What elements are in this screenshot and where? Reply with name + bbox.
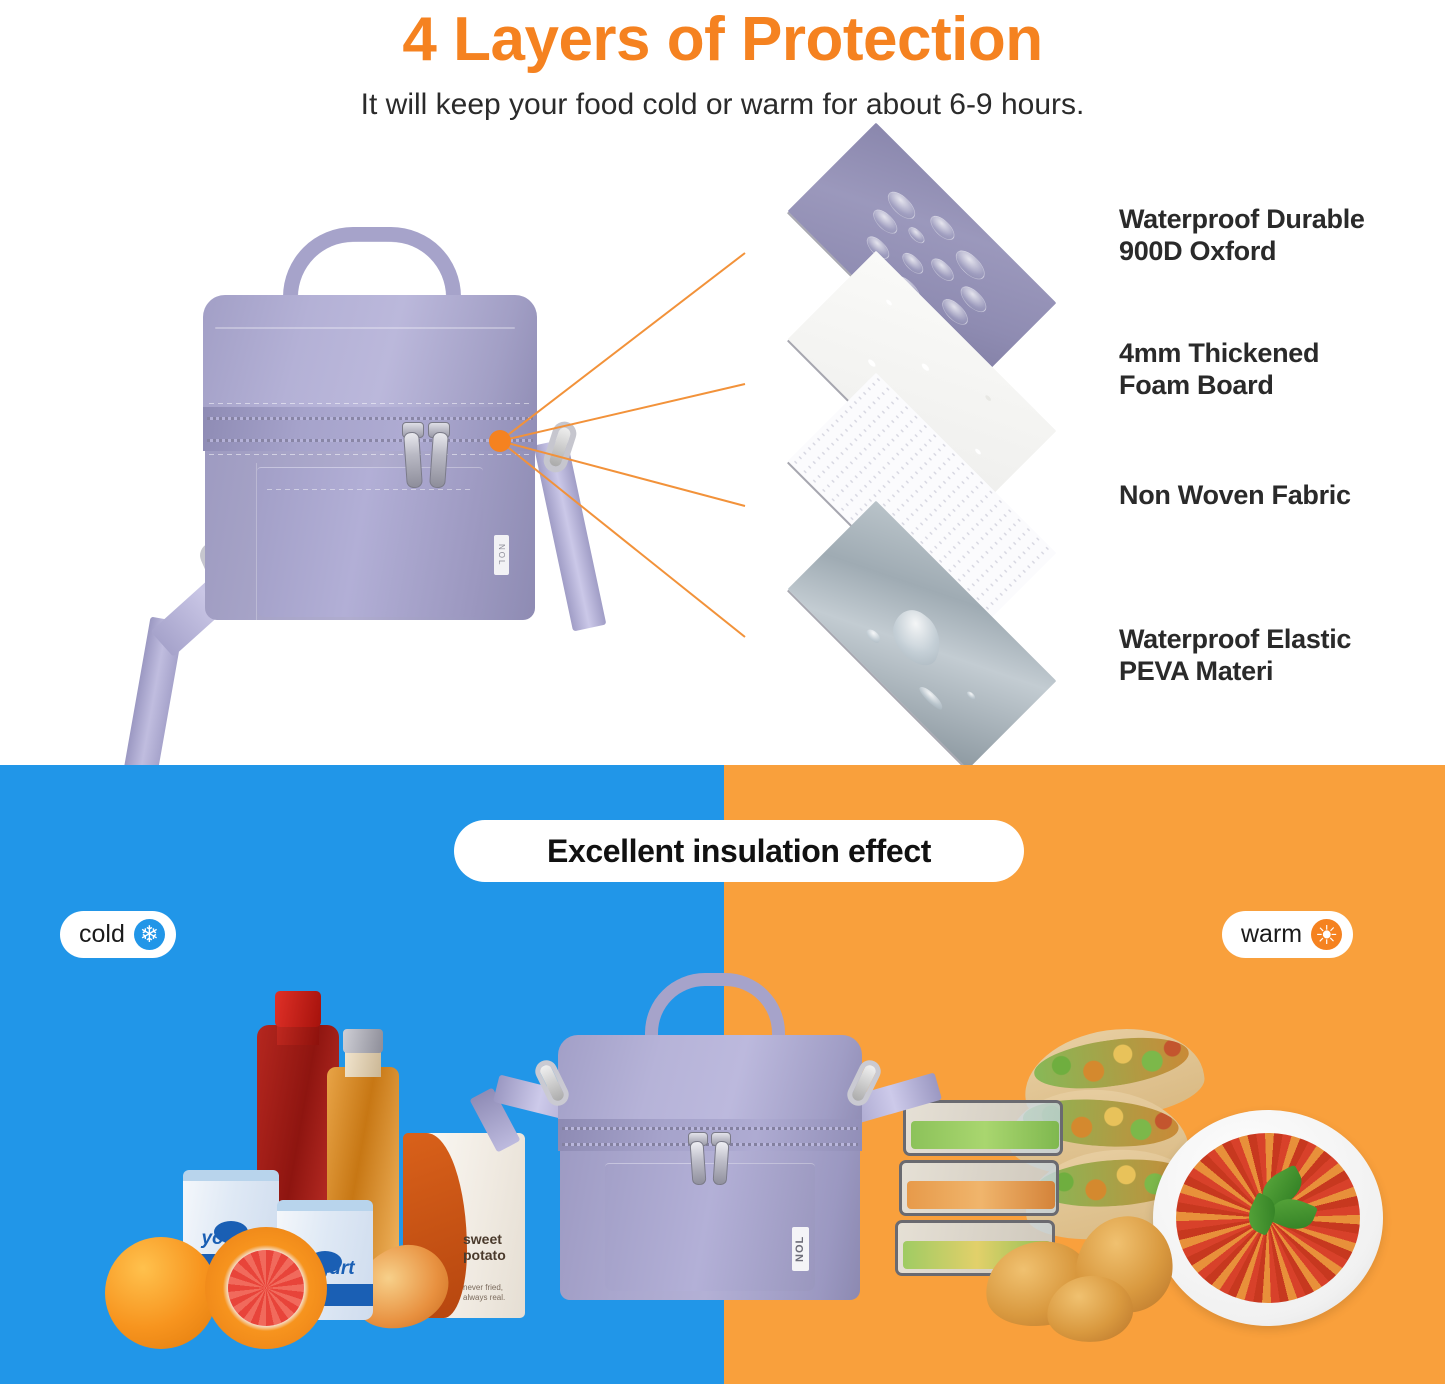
warm-label: warm bbox=[1241, 920, 1302, 949]
bag-zipper-band bbox=[203, 407, 537, 451]
layer-label-2: 4mm Thickened Foam Board bbox=[1119, 337, 1319, 401]
cola-cap bbox=[275, 991, 321, 1027]
glass-meal-container-1 bbox=[903, 1100, 1063, 1156]
bb-lid bbox=[558, 1035, 862, 1131]
layer-label-4-line1: Waterproof Elastic bbox=[1119, 623, 1351, 655]
bag-side-seam bbox=[256, 463, 257, 623]
spaghetti-plate bbox=[1153, 1110, 1383, 1326]
brand-tag: NOL bbox=[494, 535, 509, 575]
container-food-1 bbox=[911, 1121, 1059, 1149]
callout-hotspot bbox=[489, 430, 511, 452]
pita-filling-1 bbox=[1031, 1029, 1192, 1096]
layer-stack bbox=[735, 180, 1115, 700]
cold-label: cold bbox=[79, 920, 125, 949]
layer-swatch-4 bbox=[735, 558, 1105, 708]
layer-label-3: Non Woven Fabric bbox=[1119, 479, 1351, 511]
layer-label-2-line1: 4mm Thickened bbox=[1119, 337, 1319, 369]
bb-zipper-teeth-lower bbox=[562, 1143, 858, 1146]
spaghetti-noodles bbox=[1176, 1133, 1360, 1303]
bb-zipper-teeth-upper bbox=[562, 1127, 858, 1130]
bag-zipper-teeth-upper bbox=[207, 417, 533, 420]
bb-zipper-band bbox=[558, 1119, 862, 1151]
layer-label-1-line2: 900D Oxford bbox=[1119, 235, 1365, 267]
bag-zipper-teeth-lower bbox=[207, 439, 533, 442]
bag-pocket-stitch bbox=[267, 489, 473, 490]
container-food-2 bbox=[907, 1181, 1055, 1209]
sun-icon: ☀ bbox=[1311, 919, 1342, 950]
bag-stitch-top bbox=[209, 403, 531, 404]
lunch-bag-image: NOL bbox=[45, 195, 645, 665]
layer-label-1: Waterproof Durable 900D Oxford bbox=[1119, 203, 1365, 267]
strap-segment-right bbox=[534, 439, 607, 632]
layers-section: 4 Layers of Protection It will keep your… bbox=[0, 0, 1445, 765]
bb-front-pocket bbox=[605, 1163, 815, 1291]
warm-pill: warm ☀ bbox=[1222, 911, 1353, 958]
bb-zipper-pull-left bbox=[689, 1141, 706, 1186]
orange-fruit bbox=[105, 1237, 217, 1349]
snowflake-icon: ❄ bbox=[134, 919, 165, 950]
grapefruit-half bbox=[205, 1227, 327, 1349]
tea-cap bbox=[343, 1029, 383, 1053]
cold-pill: cold ❄ bbox=[60, 911, 176, 958]
layer-label-3-line1: Non Woven Fabric bbox=[1119, 479, 1351, 511]
layer-label-2-line2: Foam Board bbox=[1119, 369, 1319, 401]
cold-food-group: sweet potato never fried, always real. y… bbox=[105, 1015, 525, 1375]
layer-label-4-line2: PEVA Materi bbox=[1119, 655, 1351, 687]
page-subtitle: It will keep your food cold or warm for … bbox=[0, 88, 1445, 122]
lunch-bag-image-bottom: NOL bbox=[505, 955, 925, 1375]
strap-clip-right-icon bbox=[541, 419, 580, 476]
insulation-section: Excellent insulation effect cold ❄ warm … bbox=[0, 765, 1445, 1384]
tea-neck bbox=[345, 1051, 381, 1077]
insulation-badge: Excellent insulation effect bbox=[454, 820, 1024, 882]
bb-handle bbox=[645, 973, 785, 1043]
bag-stitch-bottom bbox=[209, 454, 531, 455]
page-title: 4 Layers of Protection bbox=[0, 4, 1445, 75]
layer-label-4: Waterproof Elastic PEVA Materi bbox=[1119, 623, 1351, 687]
warm-food-group bbox=[895, 1030, 1375, 1380]
layer-label-1-line1: Waterproof Durable bbox=[1119, 203, 1365, 235]
brand-tag-bottom: NOL bbox=[792, 1227, 809, 1271]
bag-lid-seam bbox=[215, 327, 515, 329]
